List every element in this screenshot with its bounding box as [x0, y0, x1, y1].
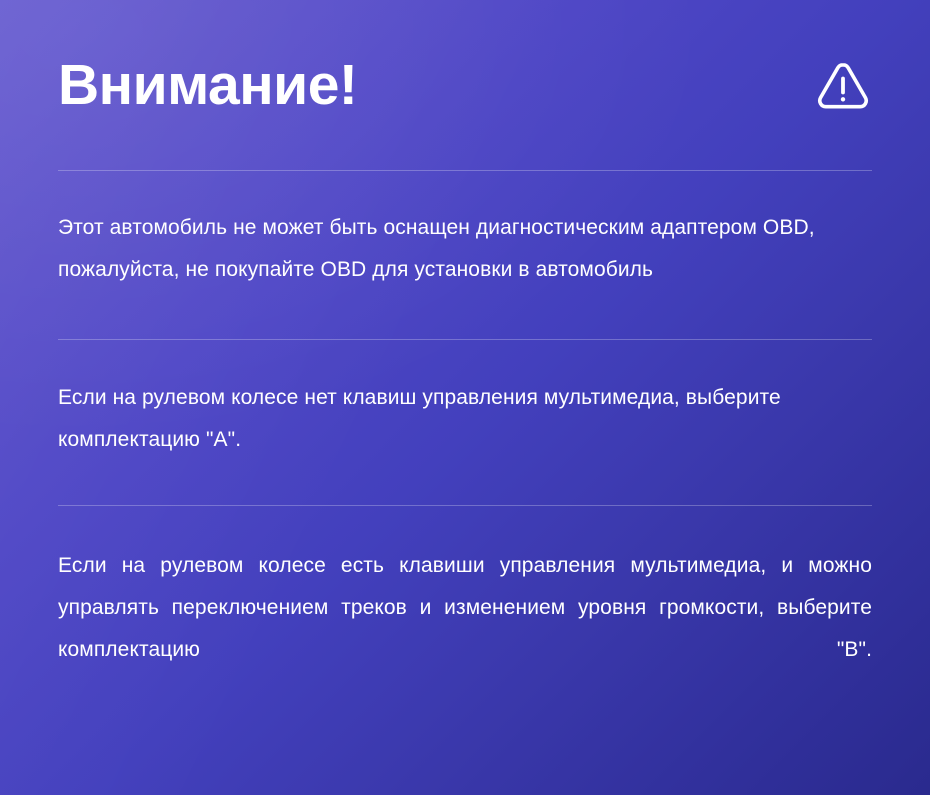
notice-block-trim-b: Если на рулевом колесе есть клавиши упра…	[58, 506, 872, 753]
notice-body: Этот автомобиль не может быть оснащен ди…	[58, 171, 872, 753]
warning-triangle-icon	[815, 57, 871, 113]
notice-text-trim-b: Если на рулевом колесе есть клавиши упра…	[58, 545, 872, 713]
warning-notice-card: Внимание! Этот автомобиль не может быть …	[0, 0, 930, 795]
notice-header: Внимание!	[58, 0, 872, 170]
notice-text-trim-a: Если на рулевом колесе нет клавиш управл…	[58, 377, 872, 461]
page-title: Внимание!	[58, 57, 357, 114]
notice-text-obd-warning: Этот автомобиль не может быть оснащен ди…	[58, 207, 872, 291]
notice-block-obd-warning: Этот автомобиль не может быть оснащен ди…	[58, 171, 872, 339]
notice-block-trim-a: Если на рулевом колесе нет клавиш управл…	[58, 340, 872, 505]
